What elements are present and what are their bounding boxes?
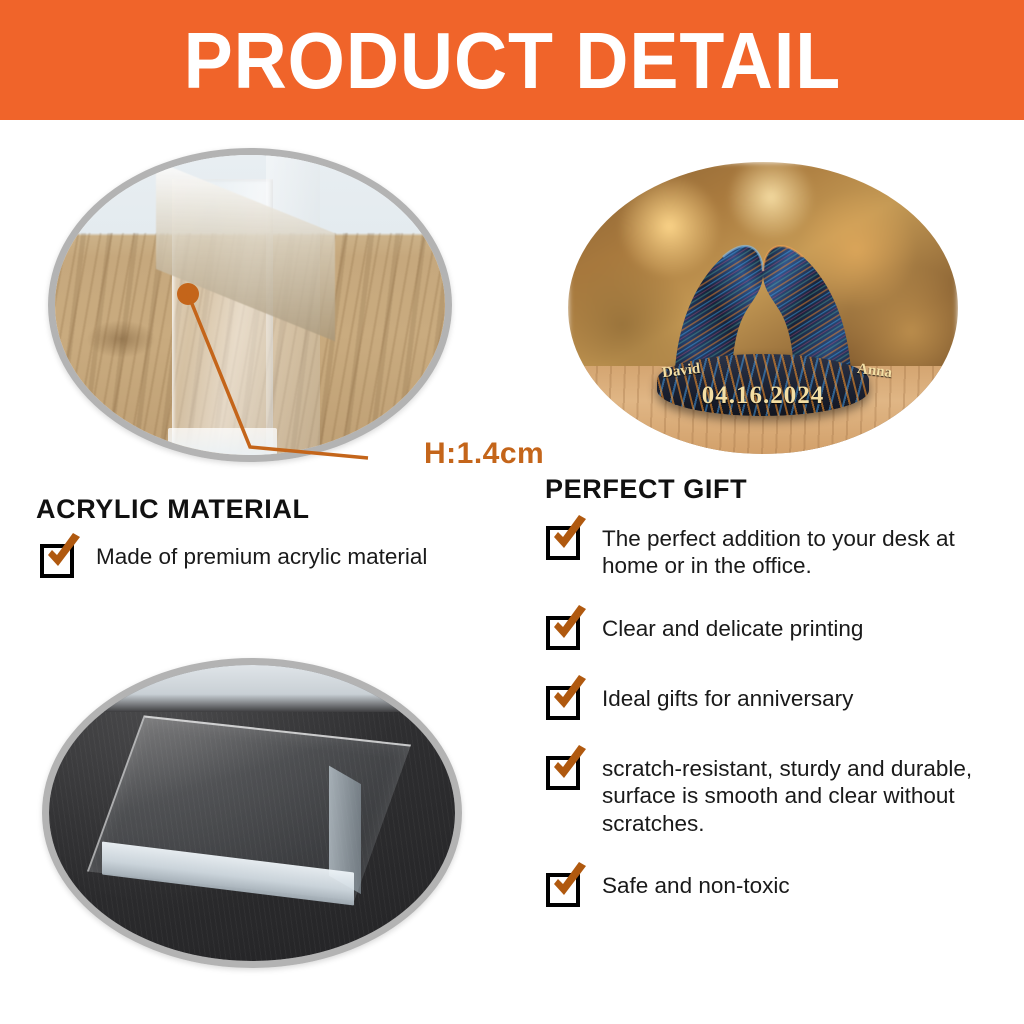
feature-item: Made of premium acrylic material [40,538,510,578]
checkmark-icon [546,752,584,790]
thickness-label: H:1.4cm [424,437,544,471]
feature-item: scratch-resistant, sturdy and durable, s… [546,750,1006,837]
wood-knot [86,320,156,358]
feature-text: Safe and non-toxic [602,867,790,899]
slate-edge-highlight [49,665,455,712]
feature-text: The perfect addition to your desk at hom… [602,520,1006,580]
feature-text: scratch-resistant, sturdy and durable, s… [602,750,1006,837]
checkmark-icon [546,612,584,650]
checkmark-icon [40,540,78,578]
product-photo-heart-sculpture: David Anna 04.16.2024 [568,162,958,454]
checkmark-icon [546,682,584,720]
checkmark-icon [546,522,584,560]
feature-list-perfect-gift: The perfect addition to your desk at hom… [546,520,1006,937]
product-photo-acrylic-block [42,658,462,968]
checkmark-icon [546,869,584,907]
product-photo-acrylic-edge [48,148,452,462]
engraved-name-right: Anna [856,360,893,381]
feature-text: Made of premium acrylic material [96,538,427,570]
feature-item: Ideal gifts for anniversary [546,680,1006,720]
page-title: PRODUCT DETAIL [183,21,841,101]
feature-item: Safe and non-toxic [546,867,1006,907]
feature-text: Ideal gifts for anniversary [602,680,853,712]
feature-text: Clear and delicate printing [602,610,863,642]
feature-item: Clear and delicate printing [546,610,1006,650]
section-heading-perfect-gift: PERFECT GIFT [545,474,747,505]
section-heading-acrylic-material: ACRYLIC MATERIAL [36,494,310,525]
engraved-date: 04.16.2024 [702,382,825,410]
feature-list-acrylic-material: Made of premium acrylic material [40,538,510,604]
feature-item: The perfect addition to your desk at hom… [546,520,1006,580]
acrylic-slab-base [168,428,277,455]
page-header-banner: PRODUCT DETAIL [0,0,1024,120]
